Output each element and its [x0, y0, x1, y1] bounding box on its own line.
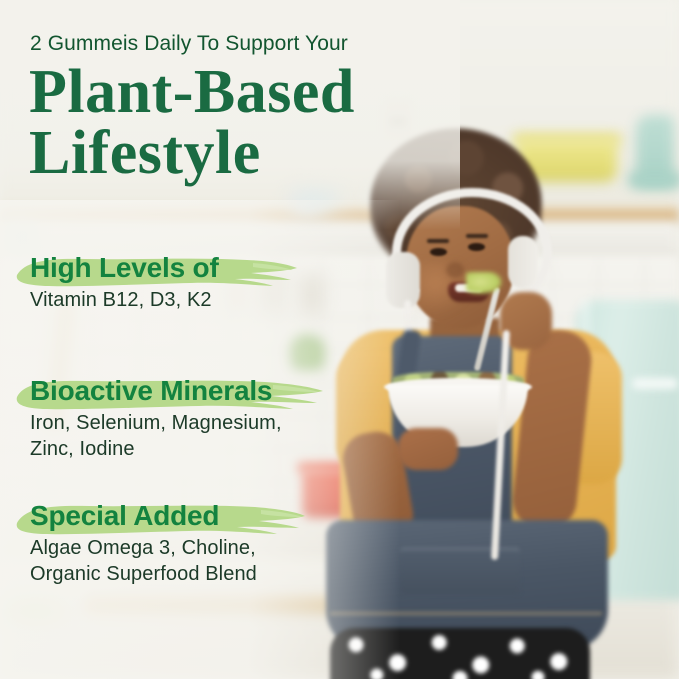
benefit-detail-line: Iron, Selenium, Magnesium, [30, 411, 282, 437]
benefit-title: Bioactive Minerals [30, 375, 276, 407]
benefit-detail: Vitamin B12, D3, K2 [30, 288, 223, 314]
benefit-title: High Levels of [30, 252, 223, 284]
benefit-block-special-added: Special Added Algae Omega 3, Choline, Or… [30, 500, 257, 587]
eyebrow-text: 2 Gummeis Daily To Support Your [30, 32, 348, 56]
benefit-block-bioactive-minerals: Bioactive Minerals Iron, Selenium, Magne… [30, 375, 282, 462]
promo-image: 2 Gummeis Daily To Support Your Plant-Ba… [0, 0, 679, 679]
benefit-title: Special Added [30, 500, 223, 532]
benefit-detail-line: Algae Omega 3, Choline, [30, 536, 257, 562]
headline-line-2: Lifestyle [29, 123, 355, 184]
benefit-detail: Iron, Selenium, Magnesium, Zinc, Iodine [30, 411, 282, 462]
benefit-detail-line: Vitamin B12, D3, K2 [30, 288, 223, 314]
benefit-detail-line: Organic Superfood Blend [30, 562, 257, 588]
headline-line-1: Plant-Based [29, 58, 355, 126]
benefit-block-high-levels: High Levels of Vitamin B12, D3, K2 [30, 252, 223, 314]
benefit-title-wrap: Bioactive Minerals [30, 375, 276, 407]
page-title: Plant-Based Lifestyle [29, 62, 355, 184]
benefit-title-wrap: High Levels of [30, 252, 223, 284]
benefit-detail: Algae Omega 3, Choline, Organic Superfoo… [30, 536, 257, 587]
benefit-title-wrap: Special Added [30, 500, 223, 532]
marketing-copy: 2 Gummeis Daily To Support Your Plant-Ba… [0, 0, 679, 679]
benefit-detail-line: Zinc, Iodine [30, 437, 282, 463]
